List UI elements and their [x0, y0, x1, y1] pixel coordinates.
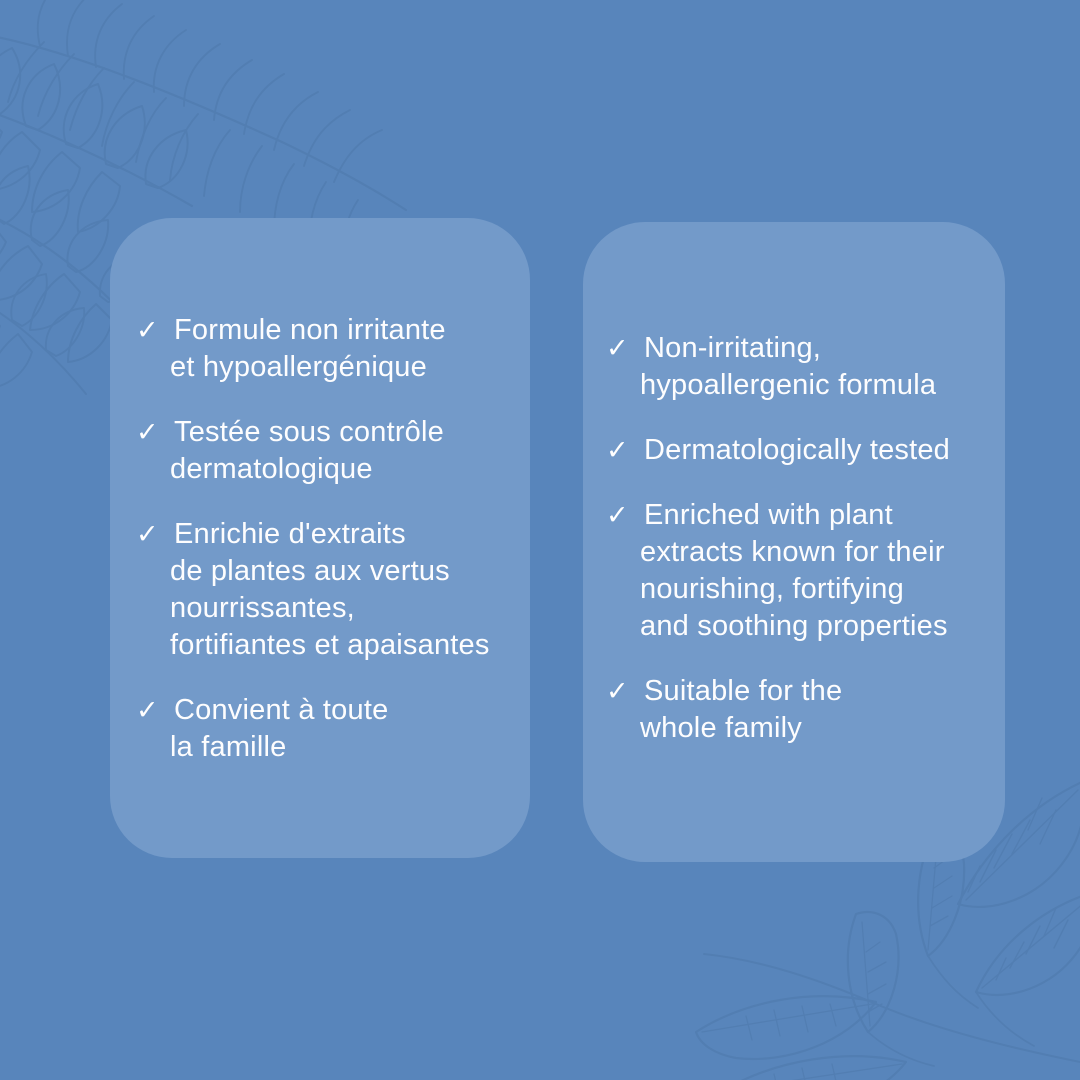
benefit-text: Formule non irritante et hypoallergéniqu…	[170, 312, 536, 386]
check-icon: ✓	[136, 692, 166, 729]
list-item: ✓ Enriched with plant extracts known for…	[606, 497, 1006, 645]
check-icon: ✓	[606, 330, 636, 367]
list-item: ✓ Enrichie d'extraits de plantes aux ver…	[136, 516, 536, 664]
list-item: ✓ Formule non irritante et hypoallergéni…	[136, 312, 536, 386]
list-item: ✓ Convient à toute la famille	[136, 692, 536, 766]
check-icon: ✓	[606, 497, 636, 534]
check-icon: ✓	[606, 673, 636, 710]
list-item: ✓ Testée sous contrôle dermatologique	[136, 414, 536, 488]
benefit-list-french: ✓ Formule non irritante et hypoallergéni…	[136, 312, 536, 766]
benefit-list-english: ✓ Non-irritating, hypoallergenic formula…	[606, 330, 1006, 747]
benefit-text: Non-irritating, hypoallergenic formula	[640, 330, 1006, 404]
benefit-cards-container: ✓ Formule non irritante et hypoallergéni…	[0, 0, 1080, 1080]
benefit-text: Enrichie d'extraits de plantes aux vertu…	[170, 516, 536, 664]
check-icon: ✓	[136, 516, 166, 553]
check-icon: ✓	[606, 432, 636, 469]
benefit-text: Enriched with plant extracts known for t…	[640, 497, 1006, 645]
benefit-text: Suitable for the whole family	[640, 673, 1006, 747]
benefit-text: Dermatologically tested	[640, 432, 1006, 469]
list-item: ✓ Dermatologically tested	[606, 432, 1006, 469]
check-icon: ✓	[136, 312, 166, 349]
benefit-text: Testée sous contrôle dermatologique	[170, 414, 536, 488]
benefit-text: Convient à toute la famille	[170, 692, 536, 766]
promotional-graphic: ✓ Formule non irritante et hypoallergéni…	[0, 0, 1080, 1080]
check-icon: ✓	[136, 414, 166, 451]
list-item: ✓ Suitable for the whole family	[606, 673, 1006, 747]
list-item: ✓ Non-irritating, hypoallergenic formula	[606, 330, 1006, 404]
